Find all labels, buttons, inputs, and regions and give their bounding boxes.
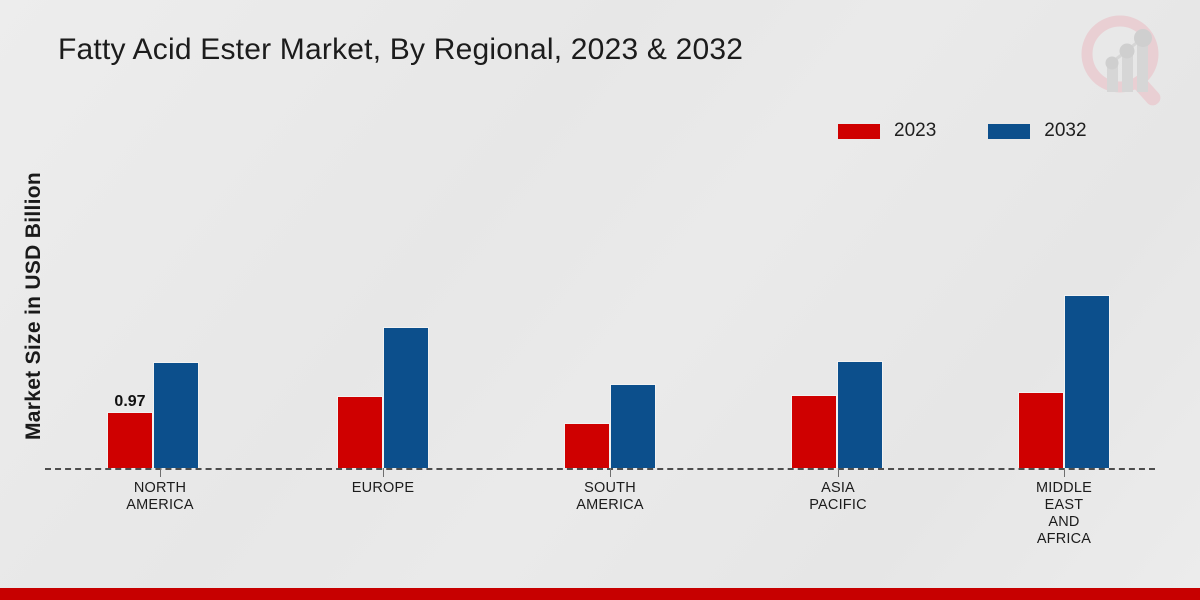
bar-value-2023-north-america: 0.97 bbox=[114, 393, 145, 411]
bar-2023-north-america[interactable]: 0.97 bbox=[107, 412, 153, 468]
bar-2032-south-america[interactable] bbox=[610, 384, 656, 468]
x-tick-europe bbox=[383, 468, 384, 477]
bar-2032-europe[interactable] bbox=[383, 327, 429, 468]
x-label-middle-east-and-africa: MIDDLE EAST AND AFRICA bbox=[974, 480, 1154, 548]
bar-2023-south-america[interactable] bbox=[564, 423, 610, 468]
bar-2032-north-america[interactable] bbox=[153, 362, 199, 468]
bar-2032-middle-east-and-africa[interactable] bbox=[1064, 295, 1110, 468]
x-label-south-america: SOUTH AMERICA bbox=[520, 480, 700, 514]
bar-2032-asia-pacific[interactable] bbox=[837, 361, 883, 468]
x-label-europe: EUROPE bbox=[293, 480, 473, 497]
bottom-accent-bar bbox=[0, 588, 1200, 600]
chart-container: Fatty Acid Ester Market, By Regional, 20… bbox=[0, 0, 1200, 600]
x-label-north-america: NORTH AMERICA bbox=[70, 480, 250, 514]
x-tick-south-america bbox=[610, 468, 611, 477]
x-tick-north-america bbox=[160, 468, 161, 477]
x-tick-asia-pacific bbox=[838, 468, 839, 477]
x-tick-middle-east-and-africa bbox=[1064, 468, 1065, 477]
bar-2023-asia-pacific[interactable] bbox=[791, 395, 837, 468]
x-label-asia-pacific: ASIA PACIFIC bbox=[748, 480, 928, 514]
plot-area: 0.97 NORTH AMERICA EUROPE bbox=[0, 0, 1200, 600]
bar-2023-europe[interactable] bbox=[337, 396, 383, 468]
x-axis-baseline bbox=[45, 468, 1155, 470]
bar-2023-middle-east-and-africa[interactable] bbox=[1018, 392, 1064, 468]
